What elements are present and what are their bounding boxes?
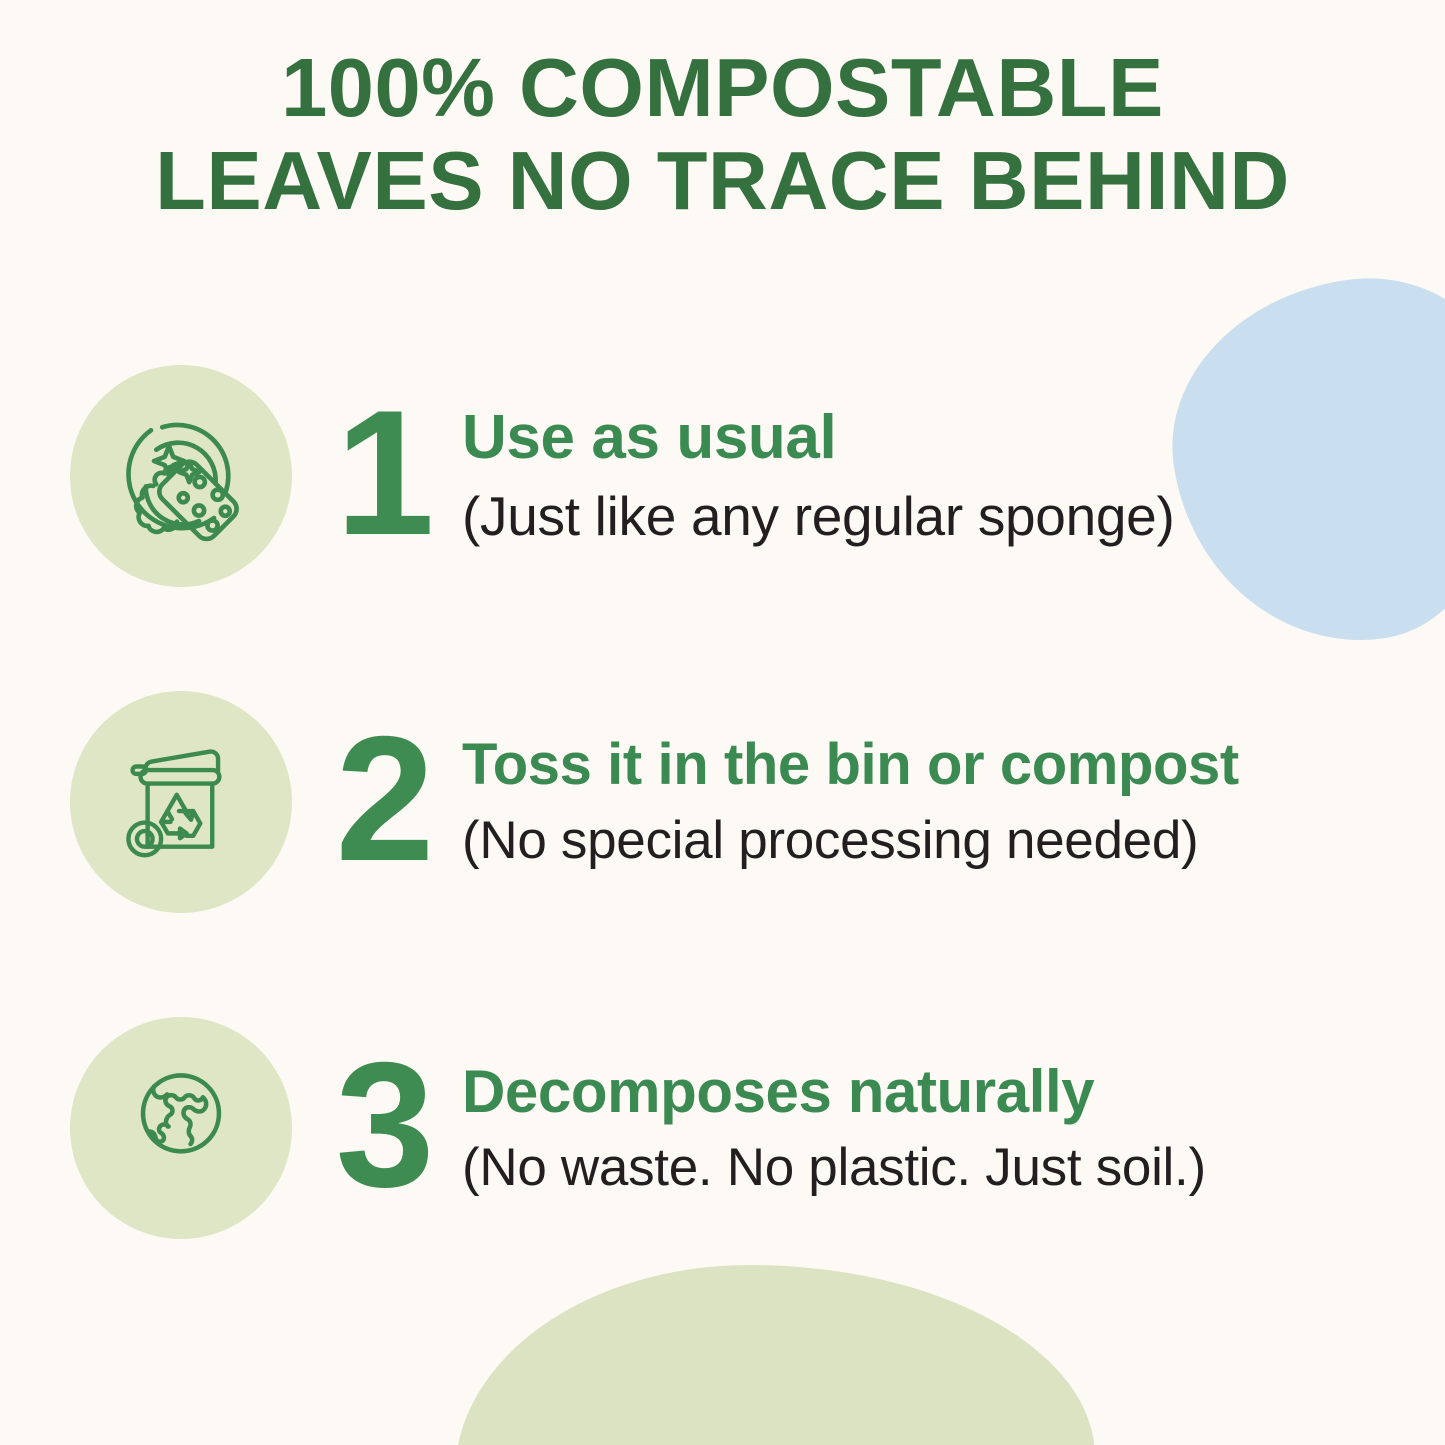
step-3-subtext: (No waste. No plastic. Just soil.) — [462, 1137, 1445, 1198]
recycling-bin-icon — [110, 731, 252, 873]
step-3-icon-badge — [70, 1017, 292, 1239]
step-3-number: 3 — [320, 1036, 448, 1214]
step-2-subtext: (No special processing needed) — [462, 810, 1445, 871]
hands-holding-globe-icon — [108, 1055, 254, 1201]
step-1-icon-badge — [70, 365, 292, 587]
green-blob-decoration — [455, 1265, 1095, 1445]
title-line-2: LEAVES NO TRACE BEHIND — [38, 135, 1407, 228]
step-3-heading: Decomposes naturally — [462, 1058, 1445, 1125]
infographic-canvas: 100% COMPOSTABLE LEAVES NO TRACE BEHIND — [0, 0, 1445, 1445]
sponge-dish-sparkle-icon — [106, 401, 256, 551]
step-1-subtext: (Just like any regular sponge) — [462, 485, 1445, 549]
title-line-1: 100% COMPOSTABLE — [38, 42, 1407, 135]
step-item-2: 2 Toss it in the bin or compost (No spec… — [0, 678, 1445, 926]
step-item-1: 1 Use as usual (Just like any regular sp… — [0, 352, 1445, 600]
step-2-number: 2 — [320, 710, 448, 888]
step-3-text-block: Decomposes naturally (No waste. No plast… — [462, 1058, 1445, 1199]
step-1-number: 1 — [320, 384, 448, 562]
step-2-text-block: Toss it in the bin or compost (No specia… — [462, 733, 1445, 871]
step-2-heading: Toss it in the bin or compost — [462, 733, 1445, 798]
step-1-heading: Use as usual — [462, 403, 1445, 472]
step-item-3: 3 Decomposes naturally (No waste. No pla… — [0, 1004, 1445, 1252]
steps-list: 1 Use as usual (Just like any regular sp… — [0, 352, 1445, 1252]
page-title: 100% COMPOSTABLE LEAVES NO TRACE BEHIND — [0, 42, 1445, 228]
step-1-text-block: Use as usual (Just like any regular spon… — [462, 403, 1445, 548]
step-2-icon-badge — [70, 691, 292, 913]
